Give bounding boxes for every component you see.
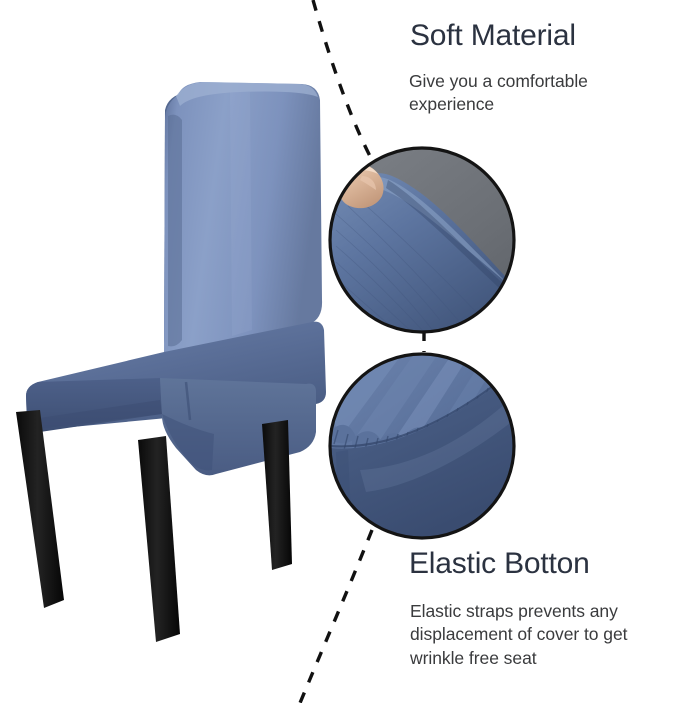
connector-bottom-dashed-line bbox=[300, 530, 372, 703]
chair-leg-front bbox=[138, 436, 180, 642]
detail-circle-elastic-hem bbox=[330, 354, 514, 538]
detail-circle-fabric-stretch bbox=[330, 148, 514, 332]
chair-illustration bbox=[16, 82, 326, 642]
soft-material-heading: Soft Material bbox=[410, 20, 576, 52]
chair-leg-right bbox=[262, 420, 292, 570]
connector-top-dashed-line bbox=[313, 0, 372, 160]
soft-material-body: Give you a comfortable experience bbox=[409, 70, 659, 117]
elastic-bottom-heading: Elastic Botton bbox=[409, 548, 590, 580]
chair-leg-left bbox=[16, 410, 64, 608]
elastic-bottom-body: Elastic straps prevents any displacement… bbox=[410, 600, 668, 670]
infographic-canvas: Soft Material Give you a comfortable exp… bbox=[0, 0, 679, 703]
